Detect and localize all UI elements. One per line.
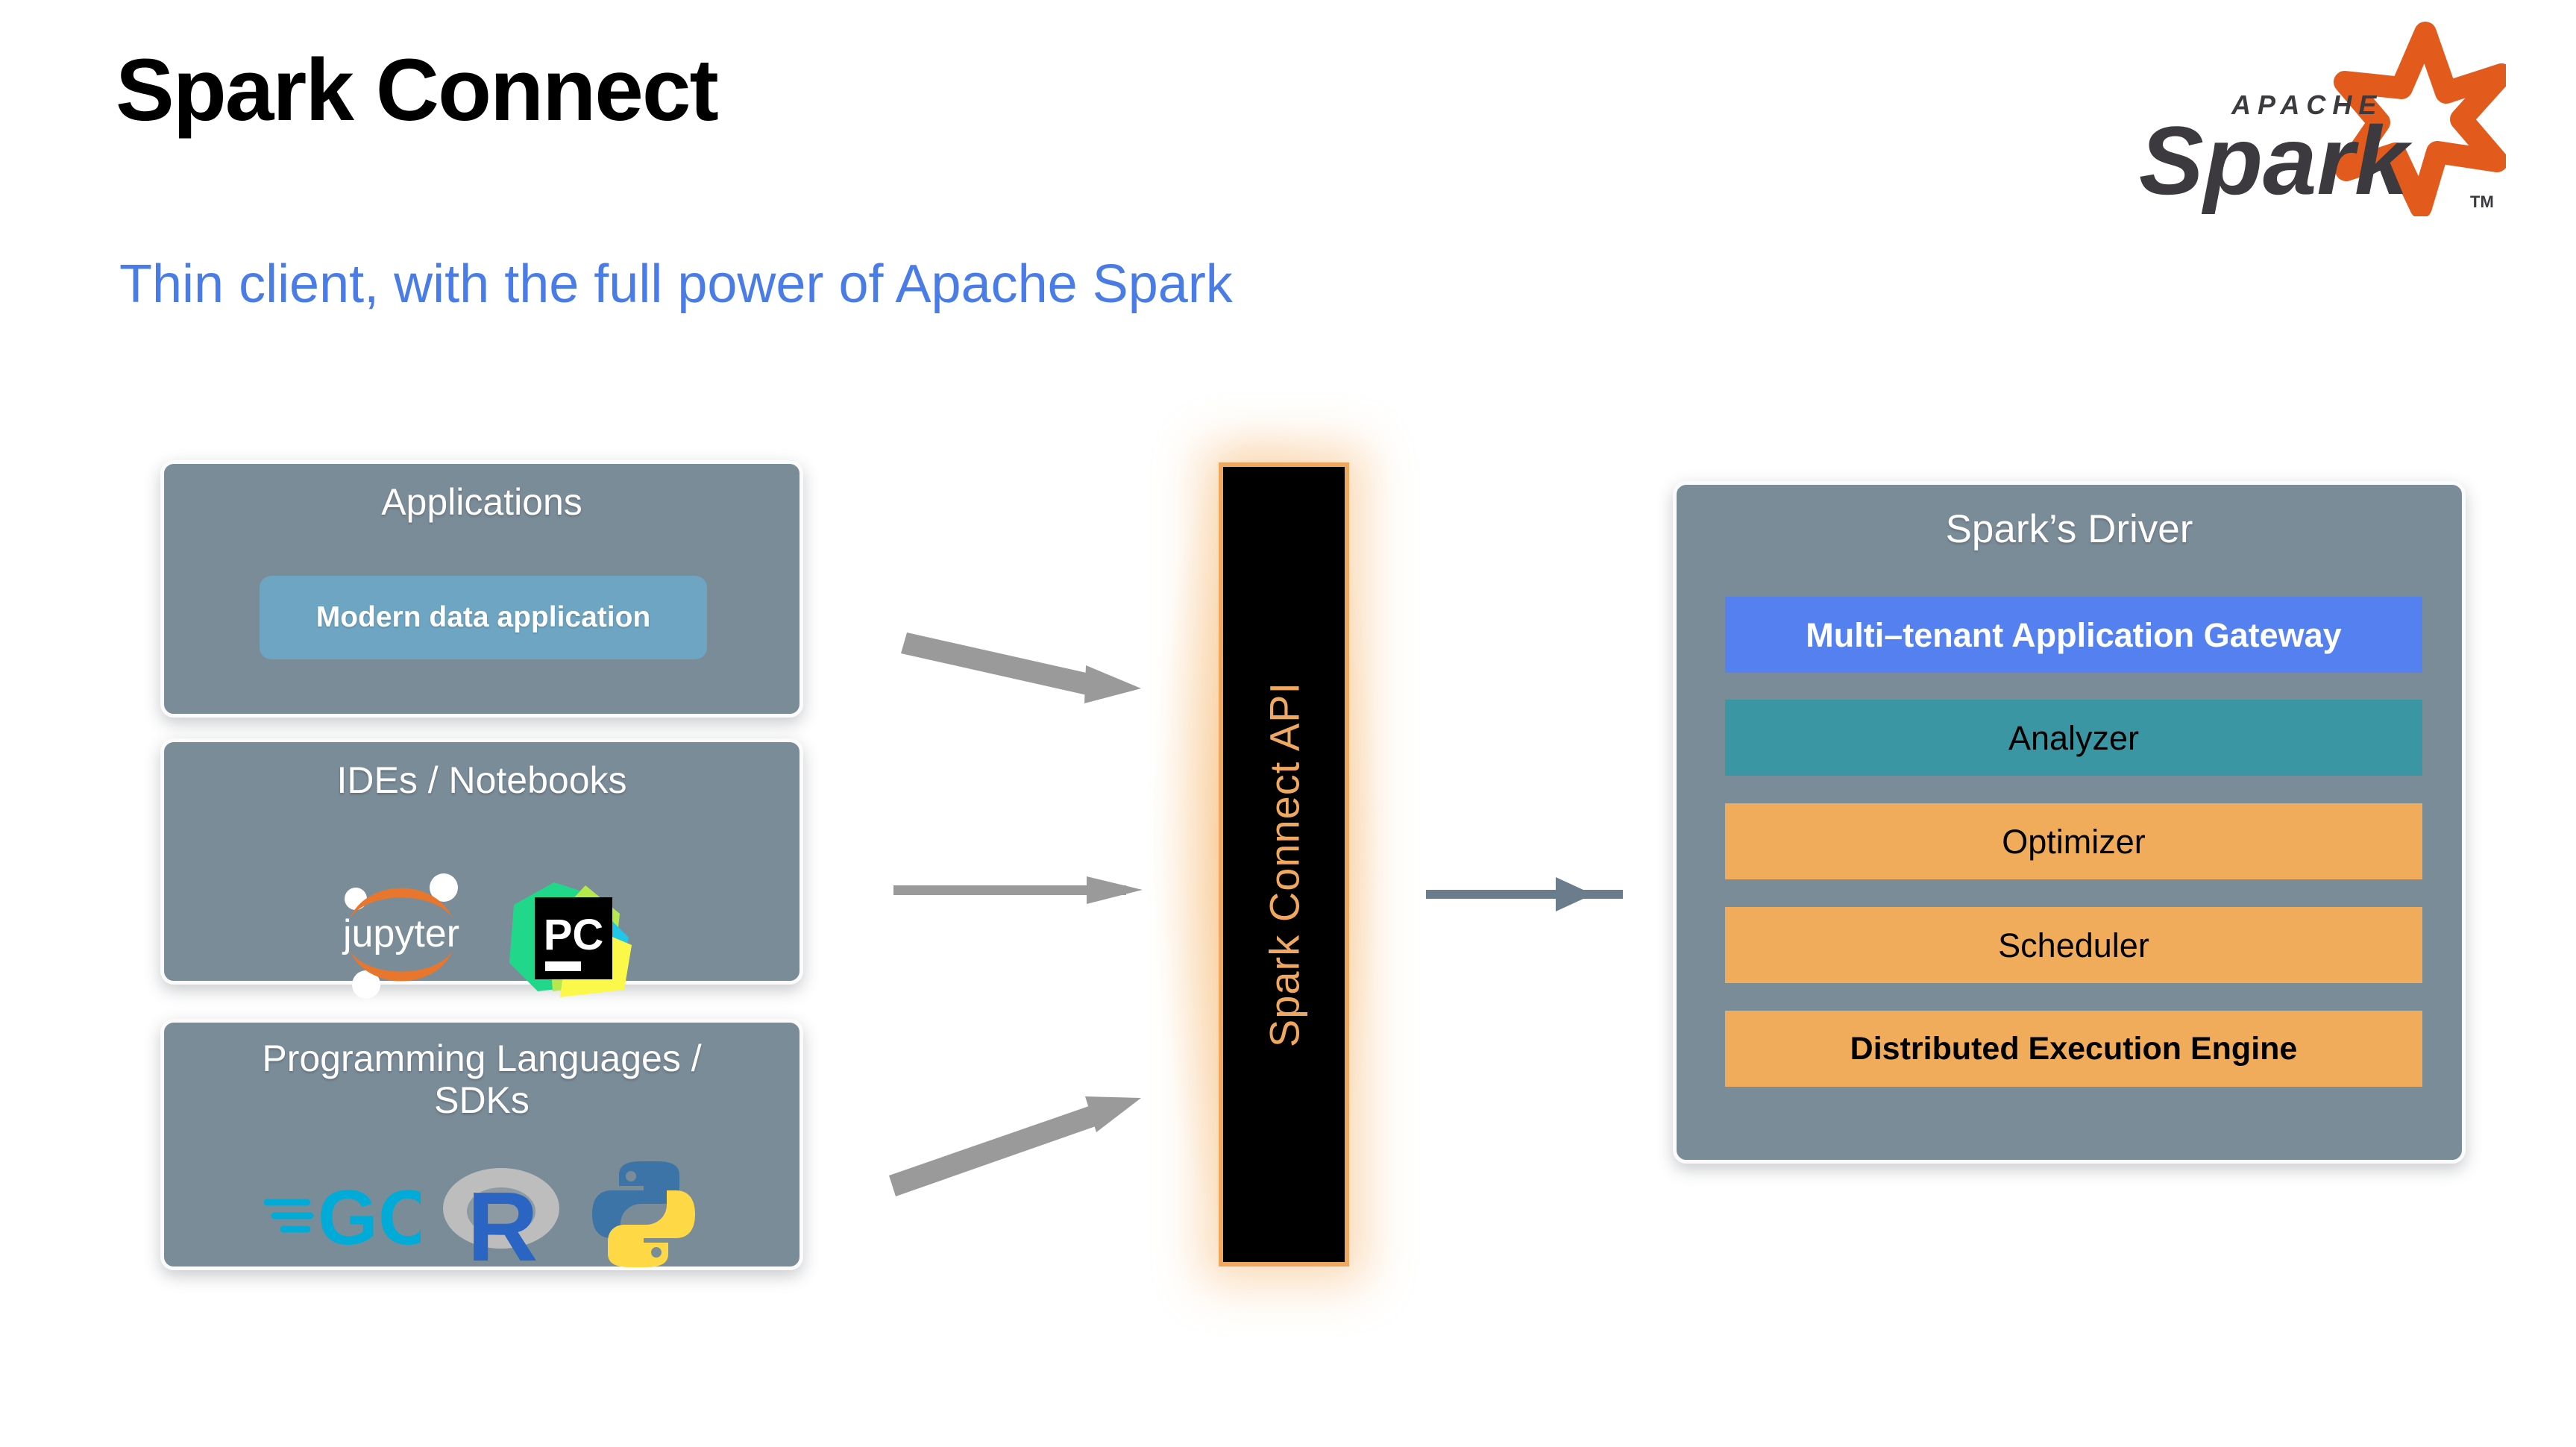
- panel-languages-title: Programming Languages / SDKs: [164, 1038, 799, 1121]
- panel-driver-title: Spark’s Driver: [1677, 507, 2462, 551]
- spark-connect-api-label: Spark Connect API: [1260, 682, 1308, 1047]
- driver-row-scheduler[interactable]: Scheduler: [1725, 907, 2422, 983]
- go-wordmark: GO: [318, 1175, 421, 1259]
- jupyter-dot-top-left: [345, 888, 367, 910]
- slide-canvas: Spark Connect Thin client, with the full…: [0, 0, 2576, 1447]
- driver-row-optimizer[interactable]: Optimizer: [1725, 803, 2422, 879]
- ide-logo-row: jupyter PC: [164, 873, 799, 999]
- go-speed-lines-icon: [267, 1202, 310, 1229]
- r-logo: R: [437, 1159, 571, 1269]
- go-logo: GO: [264, 1170, 421, 1259]
- panel-ides-title: IDEs / Notebooks: [164, 759, 799, 801]
- jupyter-logo: jupyter: [330, 873, 472, 999]
- apache-spark-logo: APACHE Spark TM: [2133, 21, 2506, 216]
- panel-programming-languages[interactable]: Programming Languages / SDKs GO R: [160, 1019, 803, 1270]
- r-wordmark: R: [467, 1172, 538, 1269]
- language-logo-row: GO R: [164, 1158, 799, 1270]
- panel-languages-title-line2: SDKs: [164, 1079, 799, 1121]
- arrow-applications-to-api: [901, 633, 1141, 703]
- pycharm-wordmark: PC: [544, 911, 604, 959]
- driver-row-multi-tenant-application-gateway[interactable]: Multi–tenant Application Gateway: [1725, 597, 2422, 673]
- panel-sparks-driver[interactable]: Spark’s Driver Multi–tenant Application …: [1673, 481, 2466, 1164]
- spark-connect-api-bar[interactable]: Spark Connect API: [1219, 462, 1349, 1266]
- driver-row-distributed-execution-engine[interactable]: Distributed Execution Engine: [1725, 1011, 2422, 1087]
- panel-applications-title: Applications: [164, 481, 799, 523]
- arrow-api-to-driver: [1426, 877, 1623, 911]
- panel-ides-notebooks[interactable]: IDEs / Notebooks jupyter PC: [160, 738, 803, 985]
- modern-data-application-chip[interactable]: Modern data application: [260, 576, 707, 659]
- logo-wordmark: Spark: [2139, 106, 2413, 215]
- driver-row-analyzer[interactable]: Analyzer: [1725, 700, 2422, 776]
- page-subtitle: Thin client, with the full power of Apac…: [119, 257, 1233, 311]
- arrow-languages-to-api: [889, 1096, 1141, 1196]
- pycharm-logo: PC: [508, 873, 633, 999]
- panel-languages-title-line1: Programming Languages /: [164, 1038, 799, 1079]
- pycharm-underscore-icon: [545, 961, 581, 971]
- logo-trademark: TM: [2470, 192, 2494, 211]
- page-title: Spark Connect: [116, 46, 717, 134]
- panel-applications[interactable]: Applications Modern data application: [160, 460, 803, 718]
- jupyter-wordmark: jupyter: [342, 912, 459, 955]
- python-logo: [588, 1158, 700, 1270]
- arrow-ides-to-api: [893, 876, 1143, 904]
